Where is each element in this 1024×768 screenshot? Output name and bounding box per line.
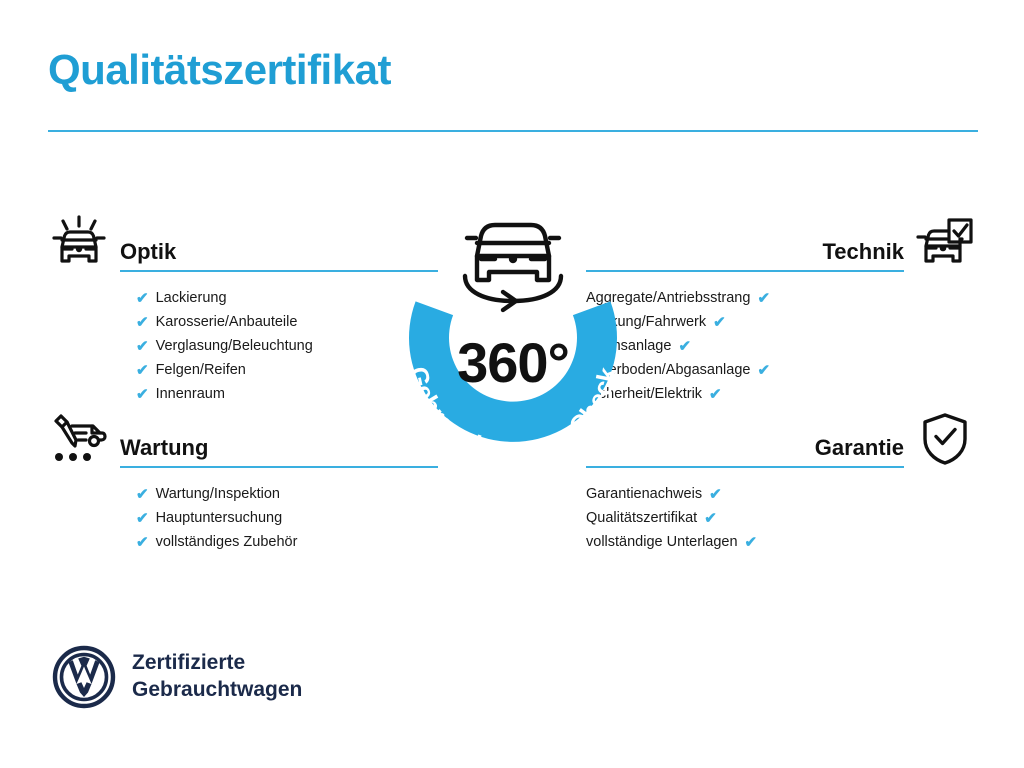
check-icon: ✔ xyxy=(709,387,722,402)
list-item-label: Felgen/Reifen xyxy=(156,358,246,382)
certificate-page: Qualitätszertifikat xyxy=(0,0,1024,768)
page-header: Qualitätszertifikat xyxy=(48,48,978,132)
list-item-label: Qualitätszertifikat xyxy=(586,506,697,530)
list-item-label: Wartung/Inspektion xyxy=(156,482,280,506)
list-item-label: Innenraum xyxy=(156,382,225,406)
list-item-label: vollständiges Zubehör xyxy=(156,530,298,554)
pen-car-service-icon xyxy=(48,410,110,468)
list-item: ✔ Qualitätszertifikat xyxy=(586,506,888,530)
check-icon: ✔ xyxy=(757,363,770,378)
shield-check-icon xyxy=(914,410,976,468)
check-icon: ✔ xyxy=(136,387,149,402)
footer-brand-text: Zertifizierte Gebrauchtwagen xyxy=(132,650,302,704)
list-item-label: Karosserie/Anbauteile xyxy=(156,310,298,334)
list-item: ✔ Hauptuntersuchung xyxy=(136,506,438,530)
check-icon: ✔ xyxy=(704,511,717,526)
check-icon: ✔ xyxy=(136,487,149,502)
check-icon: ✔ xyxy=(678,339,691,354)
list-item-label: vollständige Unterlagen xyxy=(586,530,738,554)
car-checkbox-icon xyxy=(914,214,976,272)
list-item-label: Hauptuntersuchung xyxy=(156,506,283,530)
volkswagen-logo xyxy=(52,645,116,709)
car-front-shine-icon xyxy=(48,214,110,272)
list-item-label: Lackierung xyxy=(156,286,227,310)
badge-360-gebrauchtwagen-check: Gebrauchtwagen-Check 360° xyxy=(377,188,649,506)
check-icon: ✔ xyxy=(136,535,149,550)
check-icon: ✔ xyxy=(745,535,758,550)
list-item-label: Verglasung/Beleuchtung xyxy=(156,334,313,358)
footer-brand-line-2: Gebrauchtwagen xyxy=(132,677,302,704)
check-icon: ✔ xyxy=(136,291,149,306)
page-title: Qualitätszertifikat xyxy=(48,48,978,92)
header-divider xyxy=(48,130,978,132)
check-icon: ✔ xyxy=(136,511,149,526)
check-icon: ✔ xyxy=(709,487,722,502)
list-item: ✔ vollständiges Zubehör xyxy=(136,530,438,554)
footer-brand: Zertifizierte Gebrauchtwagen xyxy=(52,645,302,709)
list-item: ✔ vollständige Unterlagen xyxy=(586,530,888,554)
check-icon: ✔ xyxy=(136,339,149,354)
check-icon: ✔ xyxy=(713,315,726,330)
footer-brand-line-1: Zertifizierte xyxy=(132,650,302,677)
check-icon: ✔ xyxy=(136,315,149,330)
car-rotation-360-icon xyxy=(465,225,561,310)
check-icon: ✔ xyxy=(136,363,149,378)
check-icon: ✔ xyxy=(757,291,770,306)
